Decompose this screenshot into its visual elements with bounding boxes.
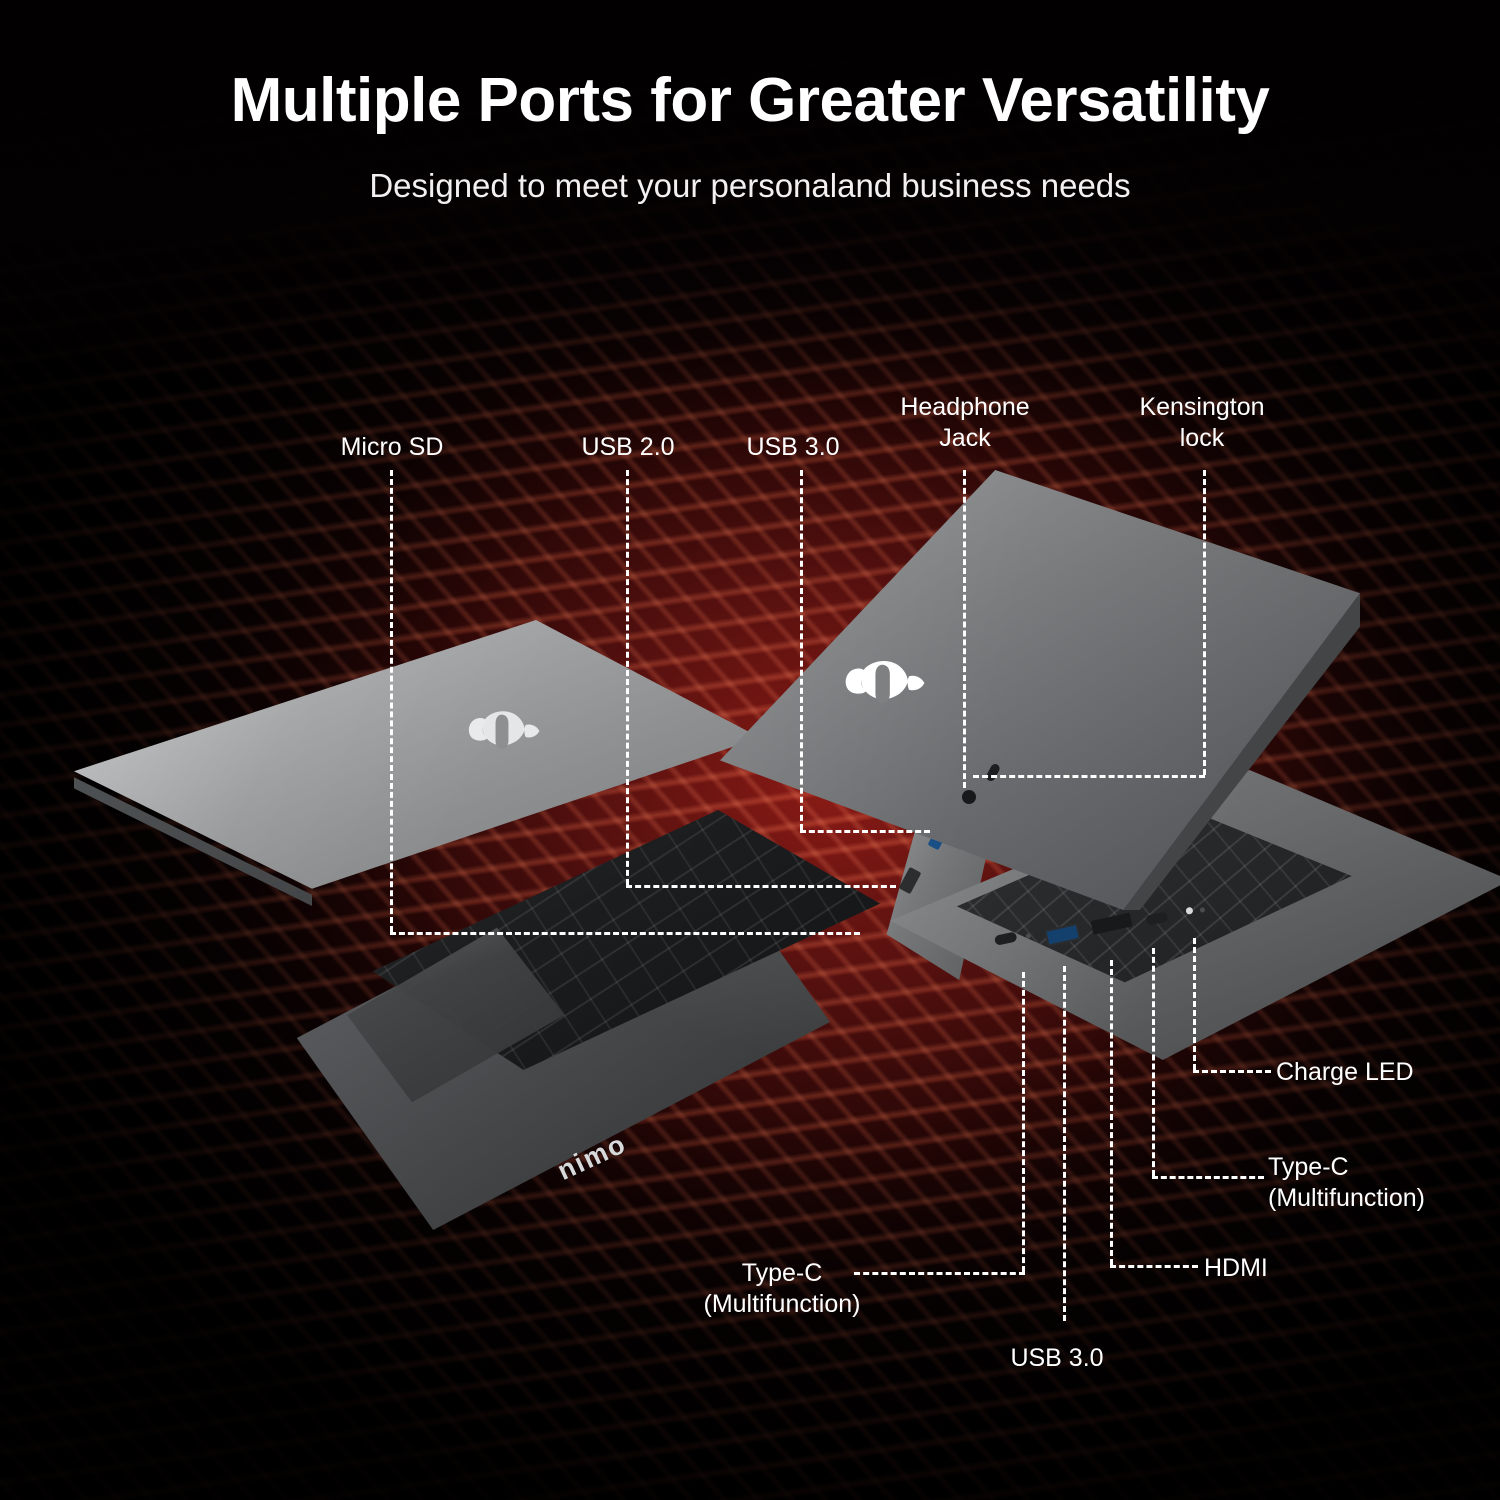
leader-usb-20-horizontal [626,885,896,888]
leader-usb-30-bottom-vertical [1063,966,1066,1321]
leader-kensington-vertical [1203,470,1206,775]
leader-headphone-jack-vertical [963,470,966,788]
headphone-jack-port [962,790,976,804]
page-title: Multiple Ports for Greater Versatility [0,68,1500,133]
callout-label-kensington-lock: Kensington lock [1139,392,1264,453]
laptop-rear-three-quarter-view [700,470,1500,1090]
clownfish-logo-icon [462,700,548,762]
leader-charge-led-vertical [1193,938,1196,1070]
callout-label-type-c-bottom: Type-C (Multifunction) [704,1258,861,1319]
leader-micro-sd-vertical [390,470,393,932]
leader-micro-sd-horizontal [390,932,860,935]
leader-type-c-bottom-horizontal [854,1272,1025,1275]
leader-hdmi-vertical [1110,960,1113,1265]
clownfish-logo-icon [838,648,934,718]
callout-label-usb-30-bottom: USB 3.0 [1010,1343,1103,1374]
callout-label-usb-20: USB 2.0 [581,432,674,463]
callout-label-headphone-jack: Headphone Jack [900,392,1029,453]
leader-type-c-right-vertical [1152,948,1155,1176]
callout-label-charge-led: Charge LED [1276,1057,1414,1088]
leader-charge-led-horizontal [1193,1070,1271,1073]
leader-type-c-right-horizontal [1152,1176,1264,1179]
callout-label-micro-sd: Micro SD [341,432,444,463]
page-subtitle: Designed to meet your personaland busine… [0,166,1500,206]
leader-usb-30-top-horizontal [800,830,930,833]
callout-label-hdmi: HDMI [1204,1253,1268,1284]
callout-label-type-c-right: Type-C (Multifunction) [1268,1152,1425,1213]
leader-type-c-bottom-vertical [1022,972,1025,1272]
leader-usb-30-top-vertical [800,470,803,830]
leader-kensington-horizontal [973,775,1205,778]
leader-hdmi-horizontal [1110,1265,1198,1268]
callout-label-usb-30-top: USB 3.0 [746,432,839,463]
product-feature-image: Multiple Ports for Greater Versatility D… [0,0,1500,1500]
leader-usb-20-vertical [626,470,629,885]
